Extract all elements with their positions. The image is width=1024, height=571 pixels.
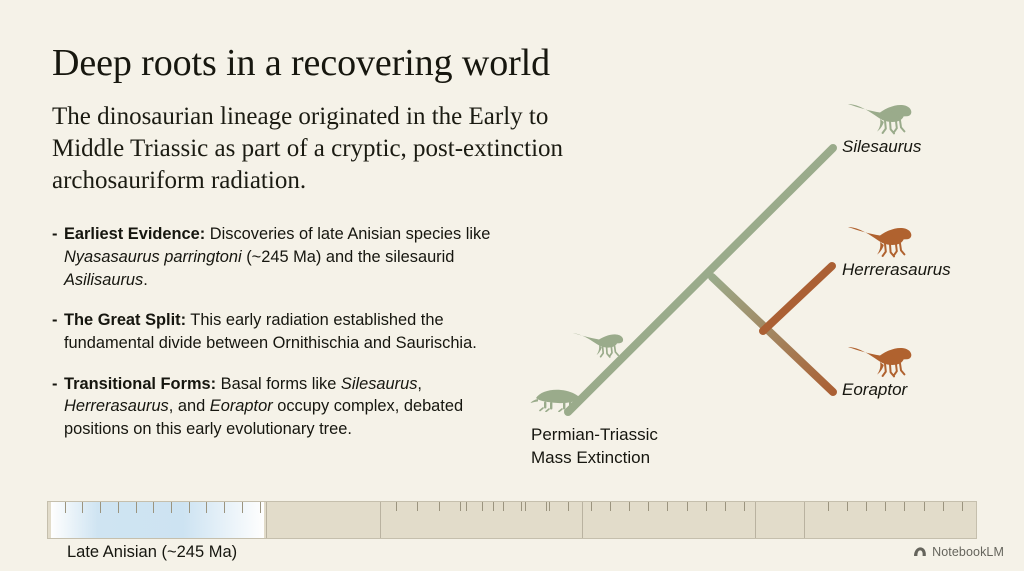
timeline-segment-divider [380,502,381,538]
tree-root-label-line2: Mass Extinction [531,447,658,470]
timeline-tick [100,502,101,513]
timeline-tick [924,502,925,511]
bullet-text: Basal forms like [216,375,341,393]
text-column: Deep roots in a recovering world The din… [52,42,592,440]
list-item: - The Great Split: This early radiation … [52,309,522,354]
timeline-tick [493,502,494,511]
timeline-tick [466,502,467,511]
timeline-tick [482,502,483,511]
timeline-tick [610,502,611,511]
bullet-body: Transitional Forms: Basal forms like Sil… [64,373,522,441]
timeline-tick [260,502,261,513]
timeline-tick [171,502,172,513]
timeline-tick [629,502,630,511]
timeline-tick [206,502,207,513]
bullet-italic-term: Eoraptor [210,397,273,415]
timeline-tick [503,502,504,511]
bullet-italic-term: Silesaurus [341,375,418,393]
timeline-segment-divider [582,502,583,538]
tree-tip-label-eoraptor: Eoraptor [842,380,907,400]
timeline-tick [847,502,848,511]
timeline-tick [224,502,225,513]
page-title: Deep roots in a recovering world [52,42,592,85]
timeline-tick [591,502,592,511]
tree-tip-label-herrerasaurus: Herrerasaurus [842,260,951,280]
timeline-tick [417,502,418,511]
timeline-tick [866,502,867,511]
timeline-tick [667,502,668,511]
timeline-tick [885,502,886,511]
bullet-label: Transitional Forms: [64,375,216,393]
timeline-segment-divider [804,502,805,538]
dinosaur-silhouette-icon [572,324,628,360]
bullet-body: The Great Split: This early radiation es… [64,309,522,354]
timeline-tick [648,502,649,511]
list-item: - Earliest Evidence: Discoveries of late… [52,223,522,291]
list-item: - Transitional Forms: Basal forms like S… [52,373,522,441]
bullet-marker: - [52,309,64,332]
page-subtitle: The dinosaurian lineage originated in th… [52,101,577,197]
tree-root-label-line1: Permian-Triassic [531,424,658,447]
timeline-tick [525,502,526,511]
branch-herrerasaurus [763,266,832,331]
bullet-list: - Earliest Evidence: Discoveries of late… [52,223,522,440]
timeline-tick [242,502,243,513]
bullet-italic-term: Asilisaurus [64,271,143,289]
bullet-italic-term: Nyasasaurus parringtoni [64,248,242,266]
bullet-label: The Great Split: [64,311,186,329]
branch-saurischia-stem [712,277,833,392]
dinosaur-silhouette-icon [847,216,917,260]
notebooklm-logo-icon [913,545,927,559]
timeline-tick [744,502,745,511]
bullet-text: , and [169,397,210,415]
notebooklm-branding: NotebookLM [913,545,1004,559]
phylogenetic-tree-diagram: Silesaurus Herrerasaurus Eoraptor Permia… [520,86,1024,486]
timeline-tick [725,502,726,511]
lizard-silhouette-icon [530,382,588,412]
timeline-tick [546,502,547,511]
timeline-ruler[interactable]: Late Anisian (~245 Ma) [47,501,977,539]
timeline-tick [153,502,154,513]
timeline-tick [549,502,550,511]
bullet-marker: - [52,373,64,396]
slide-canvas: Deep roots in a recovering world The din… [0,0,1024,571]
tree-tip-label-silesaurus: Silesaurus [842,137,921,157]
dinosaur-silhouette-icon [847,336,917,380]
timeline-tick [568,502,569,511]
timeline-segment-divider [266,502,267,538]
bullet-italic-term: Herrerasaurus [64,397,169,415]
timeline-tick [706,502,707,511]
timeline-caption: Late Anisian (~245 Ma) [67,543,237,562]
timeline-segment-divider [755,502,756,538]
timeline-tick [189,502,190,513]
timeline-tick [460,502,461,511]
timeline-tick [962,502,963,511]
bullet-text: . [143,271,148,289]
timeline-track[interactable] [47,501,977,539]
timeline-tick [687,502,688,511]
timeline-tick [118,502,119,513]
dinosaur-silhouette-icon [847,93,917,137]
notebooklm-label: NotebookLM [932,545,1004,559]
tree-root-label: Permian-Triassic Mass Extinction [531,424,658,469]
timeline-tick [396,502,397,511]
timeline-tick [904,502,905,511]
timeline-tick [65,502,66,513]
timeline-tick [828,502,829,511]
bullet-text: (~245 Ma) and the silesaurid [242,248,455,266]
timeline-tick [943,502,944,511]
timeline-tick [521,502,522,511]
branch-trunk-silesaurus [568,148,833,412]
bullet-marker: - [52,223,64,246]
bullet-label: Earliest Evidence: [64,225,205,243]
bullet-text: Discoveries of late Anisian species like [205,225,490,243]
timeline-tick [136,502,137,513]
bullet-body: Earliest Evidence: Discoveries of late A… [64,223,522,291]
timeline-tick [82,502,83,513]
timeline-tick [439,502,440,511]
bullet-text: , [417,375,422,393]
